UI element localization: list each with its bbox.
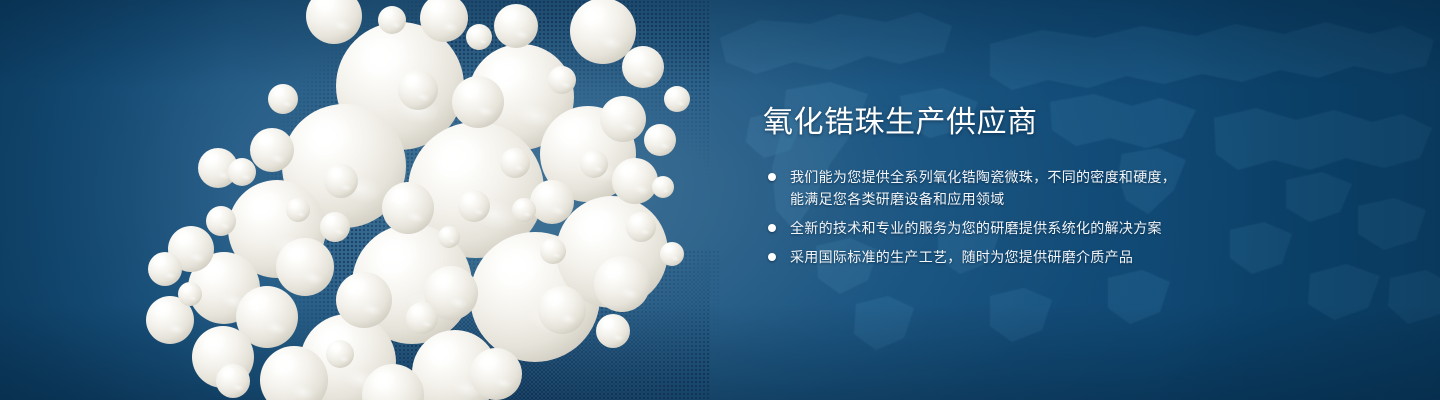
banner-feature-list: 我们能为您提供全系列氧化锆陶瓷微珠，不同的密度和硬度， 能满足您各类研磨设备和应… xyxy=(763,166,1363,268)
feature-item-2: 全新的技术和专业的服务为您的研磨提供系统化的解决方案 xyxy=(763,217,1363,239)
banner-copy: 氧化锆珠生产供应商 我们能为您提供全系列氧化锆陶瓷微珠，不同的密度和硬度， 能满… xyxy=(763,104,1363,268)
feature-item-3: 采用国际标准的生产工艺，随时为您提供研磨介质产品 xyxy=(763,246,1363,268)
hero-banner: 氧化锆珠生产供应商 我们能为您提供全系列氧化锆陶瓷微珠，不同的密度和硬度， 能满… xyxy=(0,0,1440,400)
feature-item-1-line-2: 能满足您各类研磨设备和应用领域 xyxy=(790,188,1363,210)
feature-item-3-line-1: 采用国际标准的生产工艺，随时为您提供研磨介质产品 xyxy=(790,246,1363,268)
bullet-dot-icon xyxy=(768,224,776,232)
zirconia-beads-image xyxy=(0,0,760,400)
banner-headline: 氧化锆珠生产供应商 xyxy=(763,104,1363,142)
feature-item-1-line-1: 我们能为您提供全系列氧化锆陶瓷微珠，不同的密度和硬度， xyxy=(790,166,1363,188)
bullet-dot-icon xyxy=(768,173,776,181)
bullet-dot-icon xyxy=(768,253,776,261)
feature-item-2-line-1: 全新的技术和专业的服务为您的研磨提供系统化的解决方案 xyxy=(790,217,1363,239)
feature-item-1: 我们能为您提供全系列氧化锆陶瓷微珠，不同的密度和硬度， 能满足您各类研磨设备和应… xyxy=(763,166,1363,210)
